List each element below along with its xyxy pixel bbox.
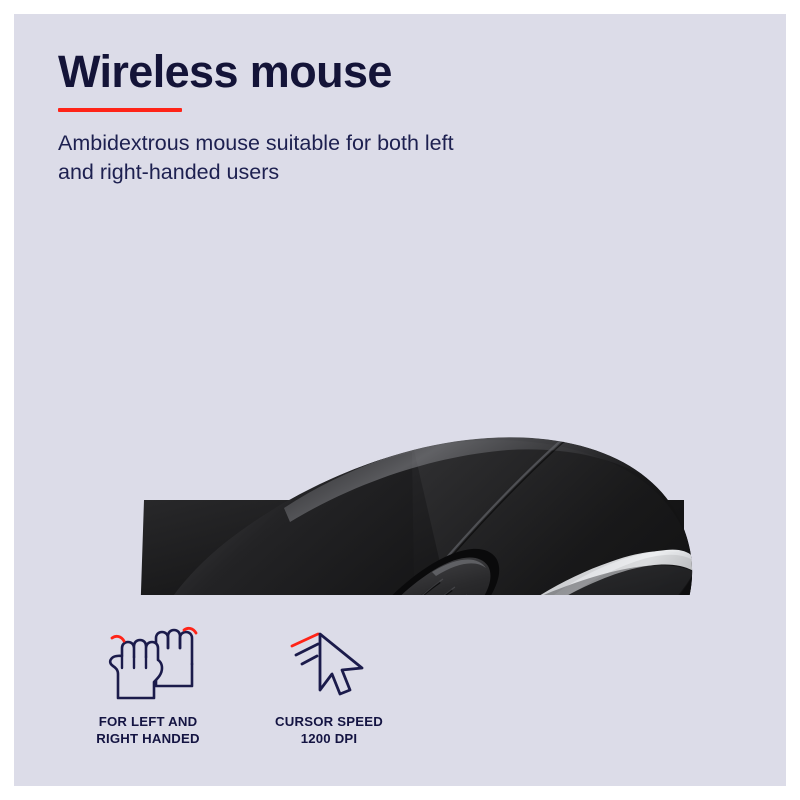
product-infographic: Wireless mouse Ambidextrous mouse suitab… bbox=[0, 0, 800, 800]
page-subtitle: Ambidextrous mouse suitable for both lef… bbox=[58, 129, 488, 187]
feature-label: Cursor speed 1200 DPI bbox=[239, 714, 419, 747]
page-title: Wireless mouse bbox=[58, 46, 618, 98]
feature-cursor-speed: Cursor speed 1200 DPI bbox=[239, 624, 419, 747]
header: Wireless mouse Ambidextrous mouse suitab… bbox=[58, 46, 618, 187]
product-panel: Wireless mouse Ambidextrous mouse suitab… bbox=[14, 14, 786, 786]
feature-left-right-handed: For left and right handed bbox=[58, 624, 238, 747]
two-hands-icon bbox=[58, 624, 238, 702]
product-image bbox=[114, 250, 714, 595]
feature-label: For left and right handed bbox=[58, 714, 238, 747]
accent-rule bbox=[58, 108, 182, 112]
feature-list: For left and right handed Cursor speed 1… bbox=[58, 624, 458, 774]
cursor-arrow-icon bbox=[239, 624, 419, 702]
